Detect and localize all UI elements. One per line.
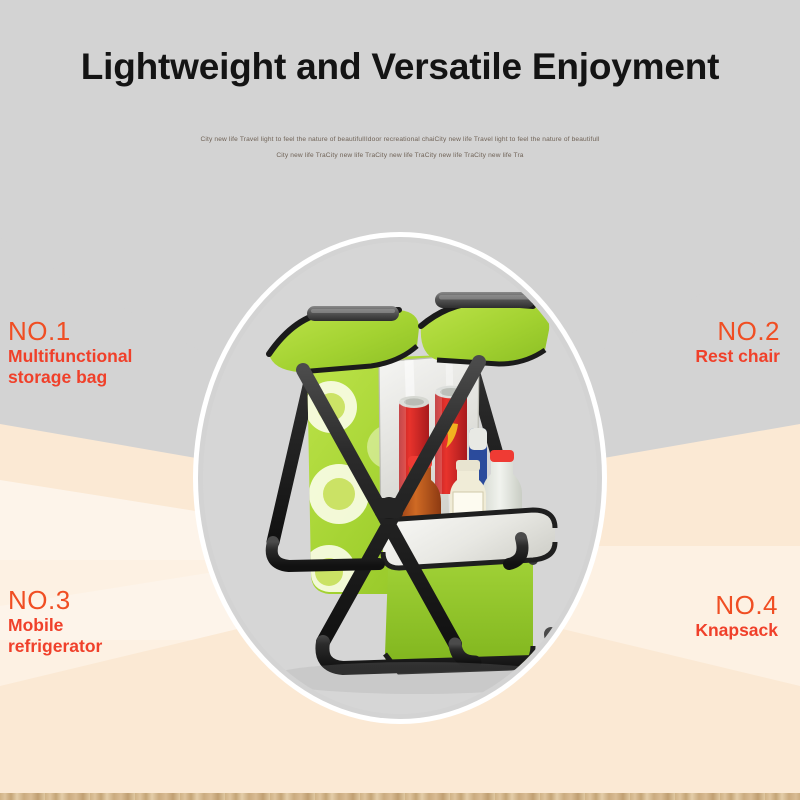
subcopy-line-1: City new life Travel light to feel the n…	[0, 132, 800, 148]
product-circle-inner	[203, 242, 597, 714]
carry-handle-left	[307, 306, 399, 321]
callout-no2: NO.2 Rest chair	[695, 316, 780, 367]
callout-no1: NO.1 Multifunctional storage bag	[8, 316, 132, 388]
callout-no3-desc-line2: refrigerator	[8, 636, 102, 657]
wood-floor-strip	[0, 793, 800, 800]
callout-no1-desc-line1: Multifunctional	[8, 346, 132, 367]
banner-stage: Lightweight and Versatile Enjoyment City…	[0, 0, 800, 800]
product-image	[203, 242, 597, 714]
page-title: Lightweight and Versatile Enjoyment	[0, 46, 800, 88]
subcopy-line-2: City new life TraCity new life TraCity n…	[0, 148, 800, 164]
callout-no3: NO.3 Mobile refrigerator	[8, 585, 102, 657]
callout-no2-number: NO.2	[695, 316, 780, 346]
callout-no4-number: NO.4	[695, 590, 778, 620]
callout-no3-number: NO.3	[8, 585, 102, 615]
callout-no1-number: NO.1	[8, 316, 132, 346]
subcopy-block: City new life Travel light to feel the n…	[0, 132, 800, 164]
callout-no1-desc-line2: storage bag	[8, 367, 132, 388]
callout-no4: NO.4 Knapsack	[695, 590, 778, 641]
callout-no2-desc-line1: Rest chair	[695, 346, 780, 367]
callout-no4-desc-line1: Knapsack	[695, 620, 778, 641]
callout-no3-desc-line1: Mobile	[8, 615, 102, 636]
carry-handle-right	[435, 292, 535, 308]
